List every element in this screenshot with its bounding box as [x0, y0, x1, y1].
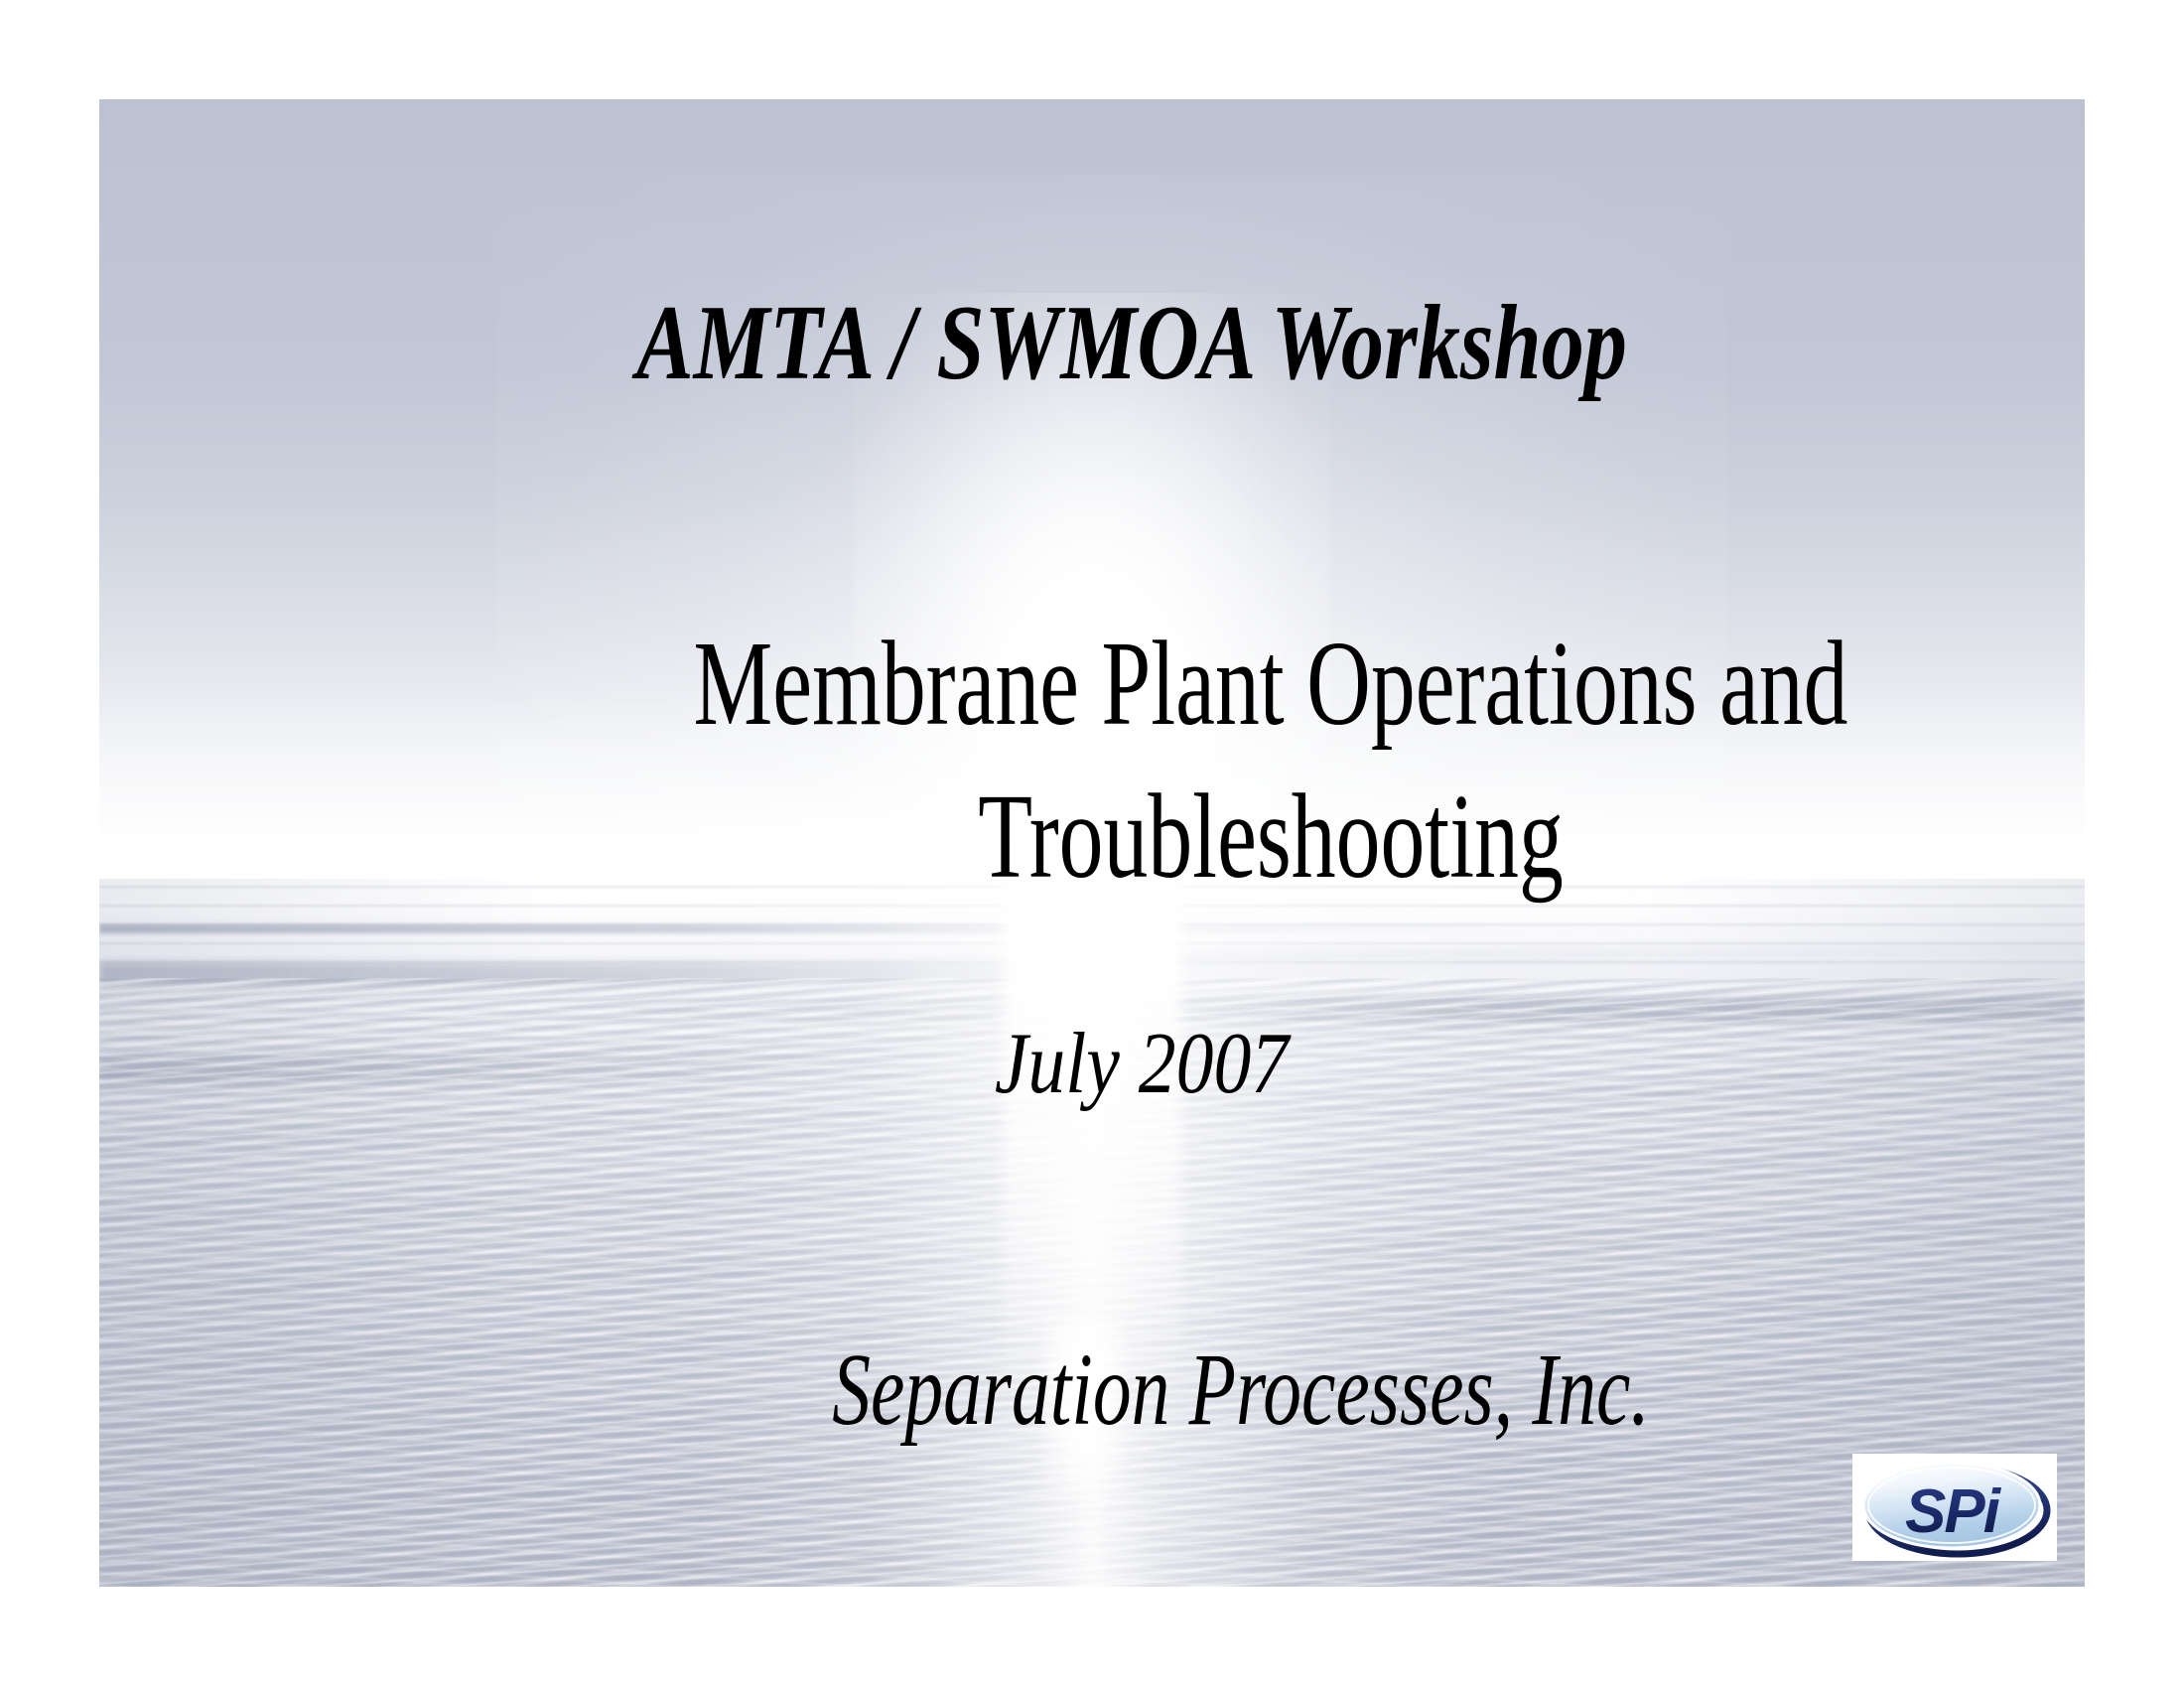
slide-subtitle-line-1: Membrane Plant Operations and	[337, 608, 2184, 761]
sea-surface	[99, 879, 2085, 1587]
slide-subtitle: Membrane Plant Operations and Troublesho…	[337, 608, 2184, 913]
slide-page: AMTA / SWMOA Workshop Membrane Plant Ope…	[0, 0, 2184, 1688]
slide-date: July 2007	[160, 1021, 2123, 1108]
spi-logo-wordmark: SPi	[1905, 1477, 2002, 1546]
slide-organization: Separation Processes, Inc.	[317, 1338, 2166, 1442]
slide-title: AMTA / SWMOA Workshop	[226, 290, 2037, 397]
slide-subtitle-line-2: Troubleshooting	[337, 761, 2184, 914]
sea-vignette	[99, 879, 2085, 1587]
spi-logo: SPi	[1852, 1454, 2057, 1561]
spi-logo-graphic: SPi	[1852, 1454, 2057, 1561]
